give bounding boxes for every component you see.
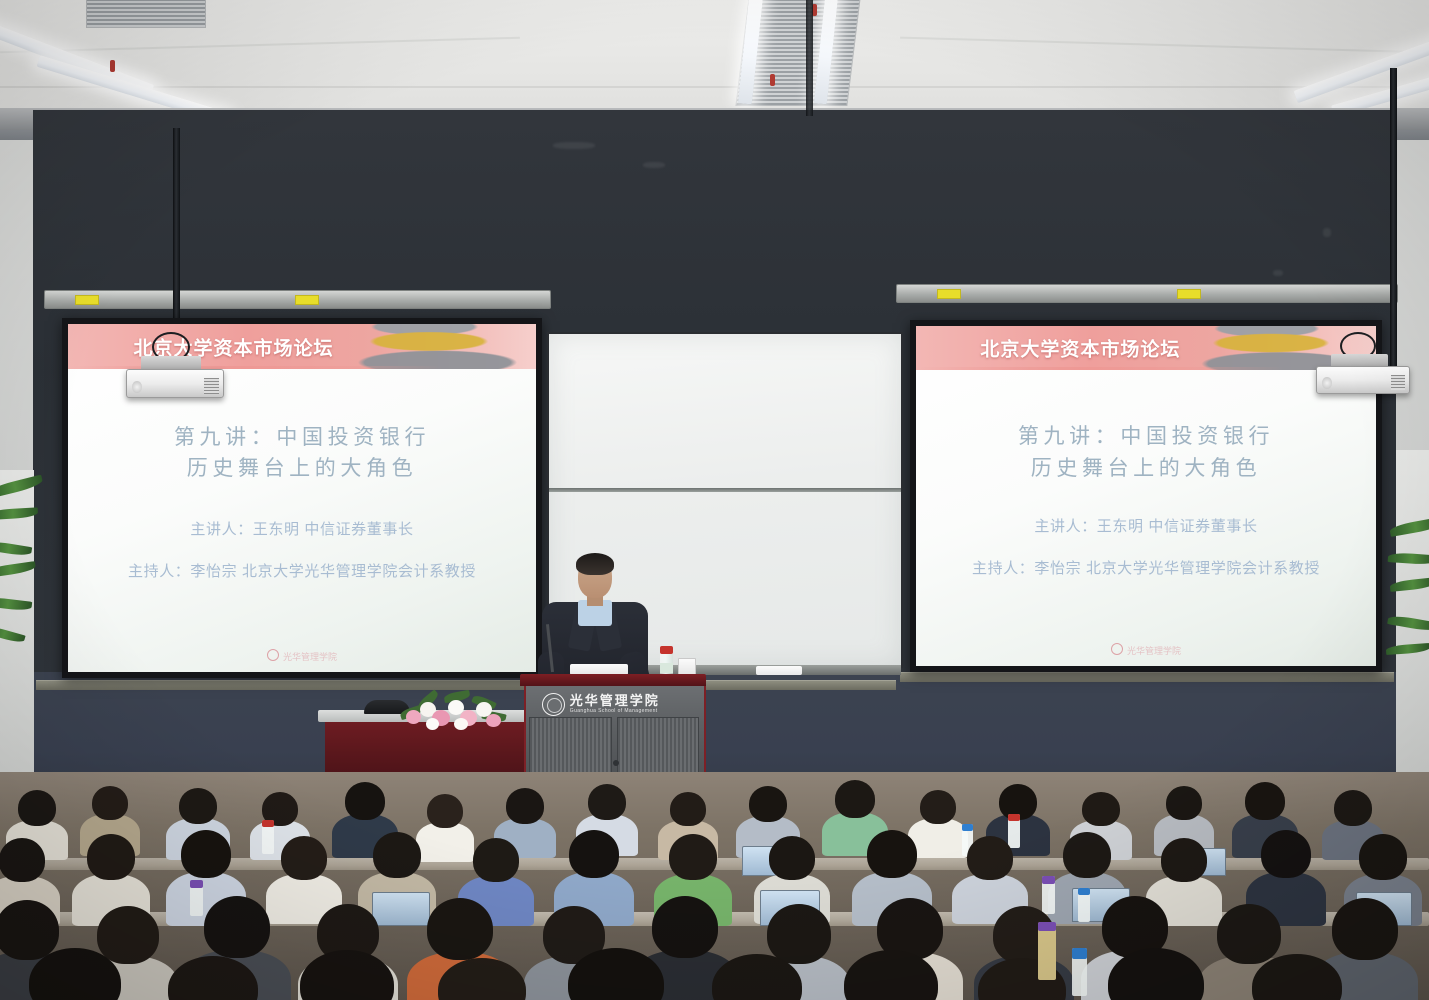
water-bottle: [1072, 948, 1087, 996]
ceiling-vent: [86, 0, 206, 28]
slide-footer-logo: 光华管理学院: [916, 643, 1376, 657]
seal-icon: [1111, 643, 1123, 655]
slide-title-line1: 第九讲：中国投资银行: [68, 421, 536, 451]
audience-member: [970, 958, 1074, 1000]
audience-member: [430, 958, 534, 1000]
audience-member: [78, 834, 144, 914]
slide-title-line2: 历史舞台上的大角色: [68, 452, 536, 482]
slide-right: 北京大学资本市场论坛 第九讲：中国投资银行 历史舞台上的大角色 主讲人：王东明 …: [916, 326, 1376, 666]
audience-member: [1244, 954, 1350, 1000]
audience-member: [292, 950, 402, 1000]
podium-logo-cn: 光华管理学院: [570, 694, 660, 707]
podium-logo: 光华管理学院 Guanghua School of Management: [542, 693, 692, 715]
audience-member: [1252, 830, 1320, 914]
podium: 光华管理学院 Guanghua School of Management: [520, 674, 706, 780]
slide-banner-title: 北京大学资本市场论坛: [980, 335, 1180, 362]
sprinkler-head: [770, 74, 775, 86]
projector-left: [126, 352, 222, 398]
podium-logo-en: Guanghua School of Management: [570, 709, 660, 714]
projector-right: [1316, 350, 1408, 394]
slide-body: 第九讲：中国投资银行 历史舞台上的大角色 主讲人：王东明 中信证券董事长 主持人…: [68, 369, 536, 672]
projector-pole-right: [1390, 68, 1397, 368]
chalk-tray: [900, 672, 1394, 682]
slide-title-line2: 历史舞台上的大角色: [916, 452, 1376, 482]
audience-member: [704, 954, 810, 1000]
thermos: [1038, 922, 1056, 980]
audience-member: [836, 950, 946, 1000]
projection-screen-right: 北京大学资本市场论坛 第九讲：中国投资银行 历史舞台上的大角色 主讲人：王东明 …: [910, 320, 1382, 672]
slide-speaker-line: 主讲人：王东明 中信证券董事长: [916, 515, 1376, 536]
chalk-tray: [36, 680, 896, 690]
screen-housing-left: [44, 290, 551, 309]
plant-right: [1386, 520, 1429, 740]
slide-host-line: 主持人：李怡宗 北京大学光华管理学院会计系教授: [68, 560, 536, 581]
audience-member: [160, 956, 266, 1000]
ceiling: [0, 0, 1429, 120]
slide-title-line1: 第九讲：中国投资银行: [916, 420, 1376, 450]
slide-banner: 北京大学资本市场论坛: [916, 326, 1376, 370]
audience-member: [560, 948, 672, 1000]
plant-left: [0, 480, 44, 710]
seal-icon: [267, 649, 279, 661]
audience-member: [20, 948, 130, 1000]
projector-pole-center-left: [806, 0, 813, 116]
screen-housing-right: [896, 284, 1398, 303]
slide-footer-logo: 光华管理学院: [68, 649, 536, 663]
slide-body: 第九讲：中国投资银行 历史舞台上的大角色 主讲人：王东明 中信证券董事长 主持人…: [916, 370, 1376, 666]
papers: [756, 666, 802, 675]
sprinkler-head: [110, 60, 115, 72]
lecture-hall-photo: 北京大学资本市场论坛 第九讲：中国投资银行 历史舞台上的大角色 主讲人：王东明 …: [0, 0, 1429, 1000]
audience-member: [958, 836, 1022, 914]
water-bottle: [1078, 888, 1090, 922]
slide-host-line: 主持人：李怡宗 北京大学光华管理学院会计系教授: [916, 557, 1376, 578]
audience-member: [560, 830, 628, 914]
slide-speaker-line: 主讲人：王东明 中信证券董事长: [68, 518, 536, 539]
audience-member: [1100, 948, 1212, 1000]
floral-arrangement: [398, 690, 508, 732]
pku-seal-icon: [542, 693, 565, 716]
pavilion-graphic: [330, 324, 536, 369]
audience: [0, 772, 1429, 1000]
